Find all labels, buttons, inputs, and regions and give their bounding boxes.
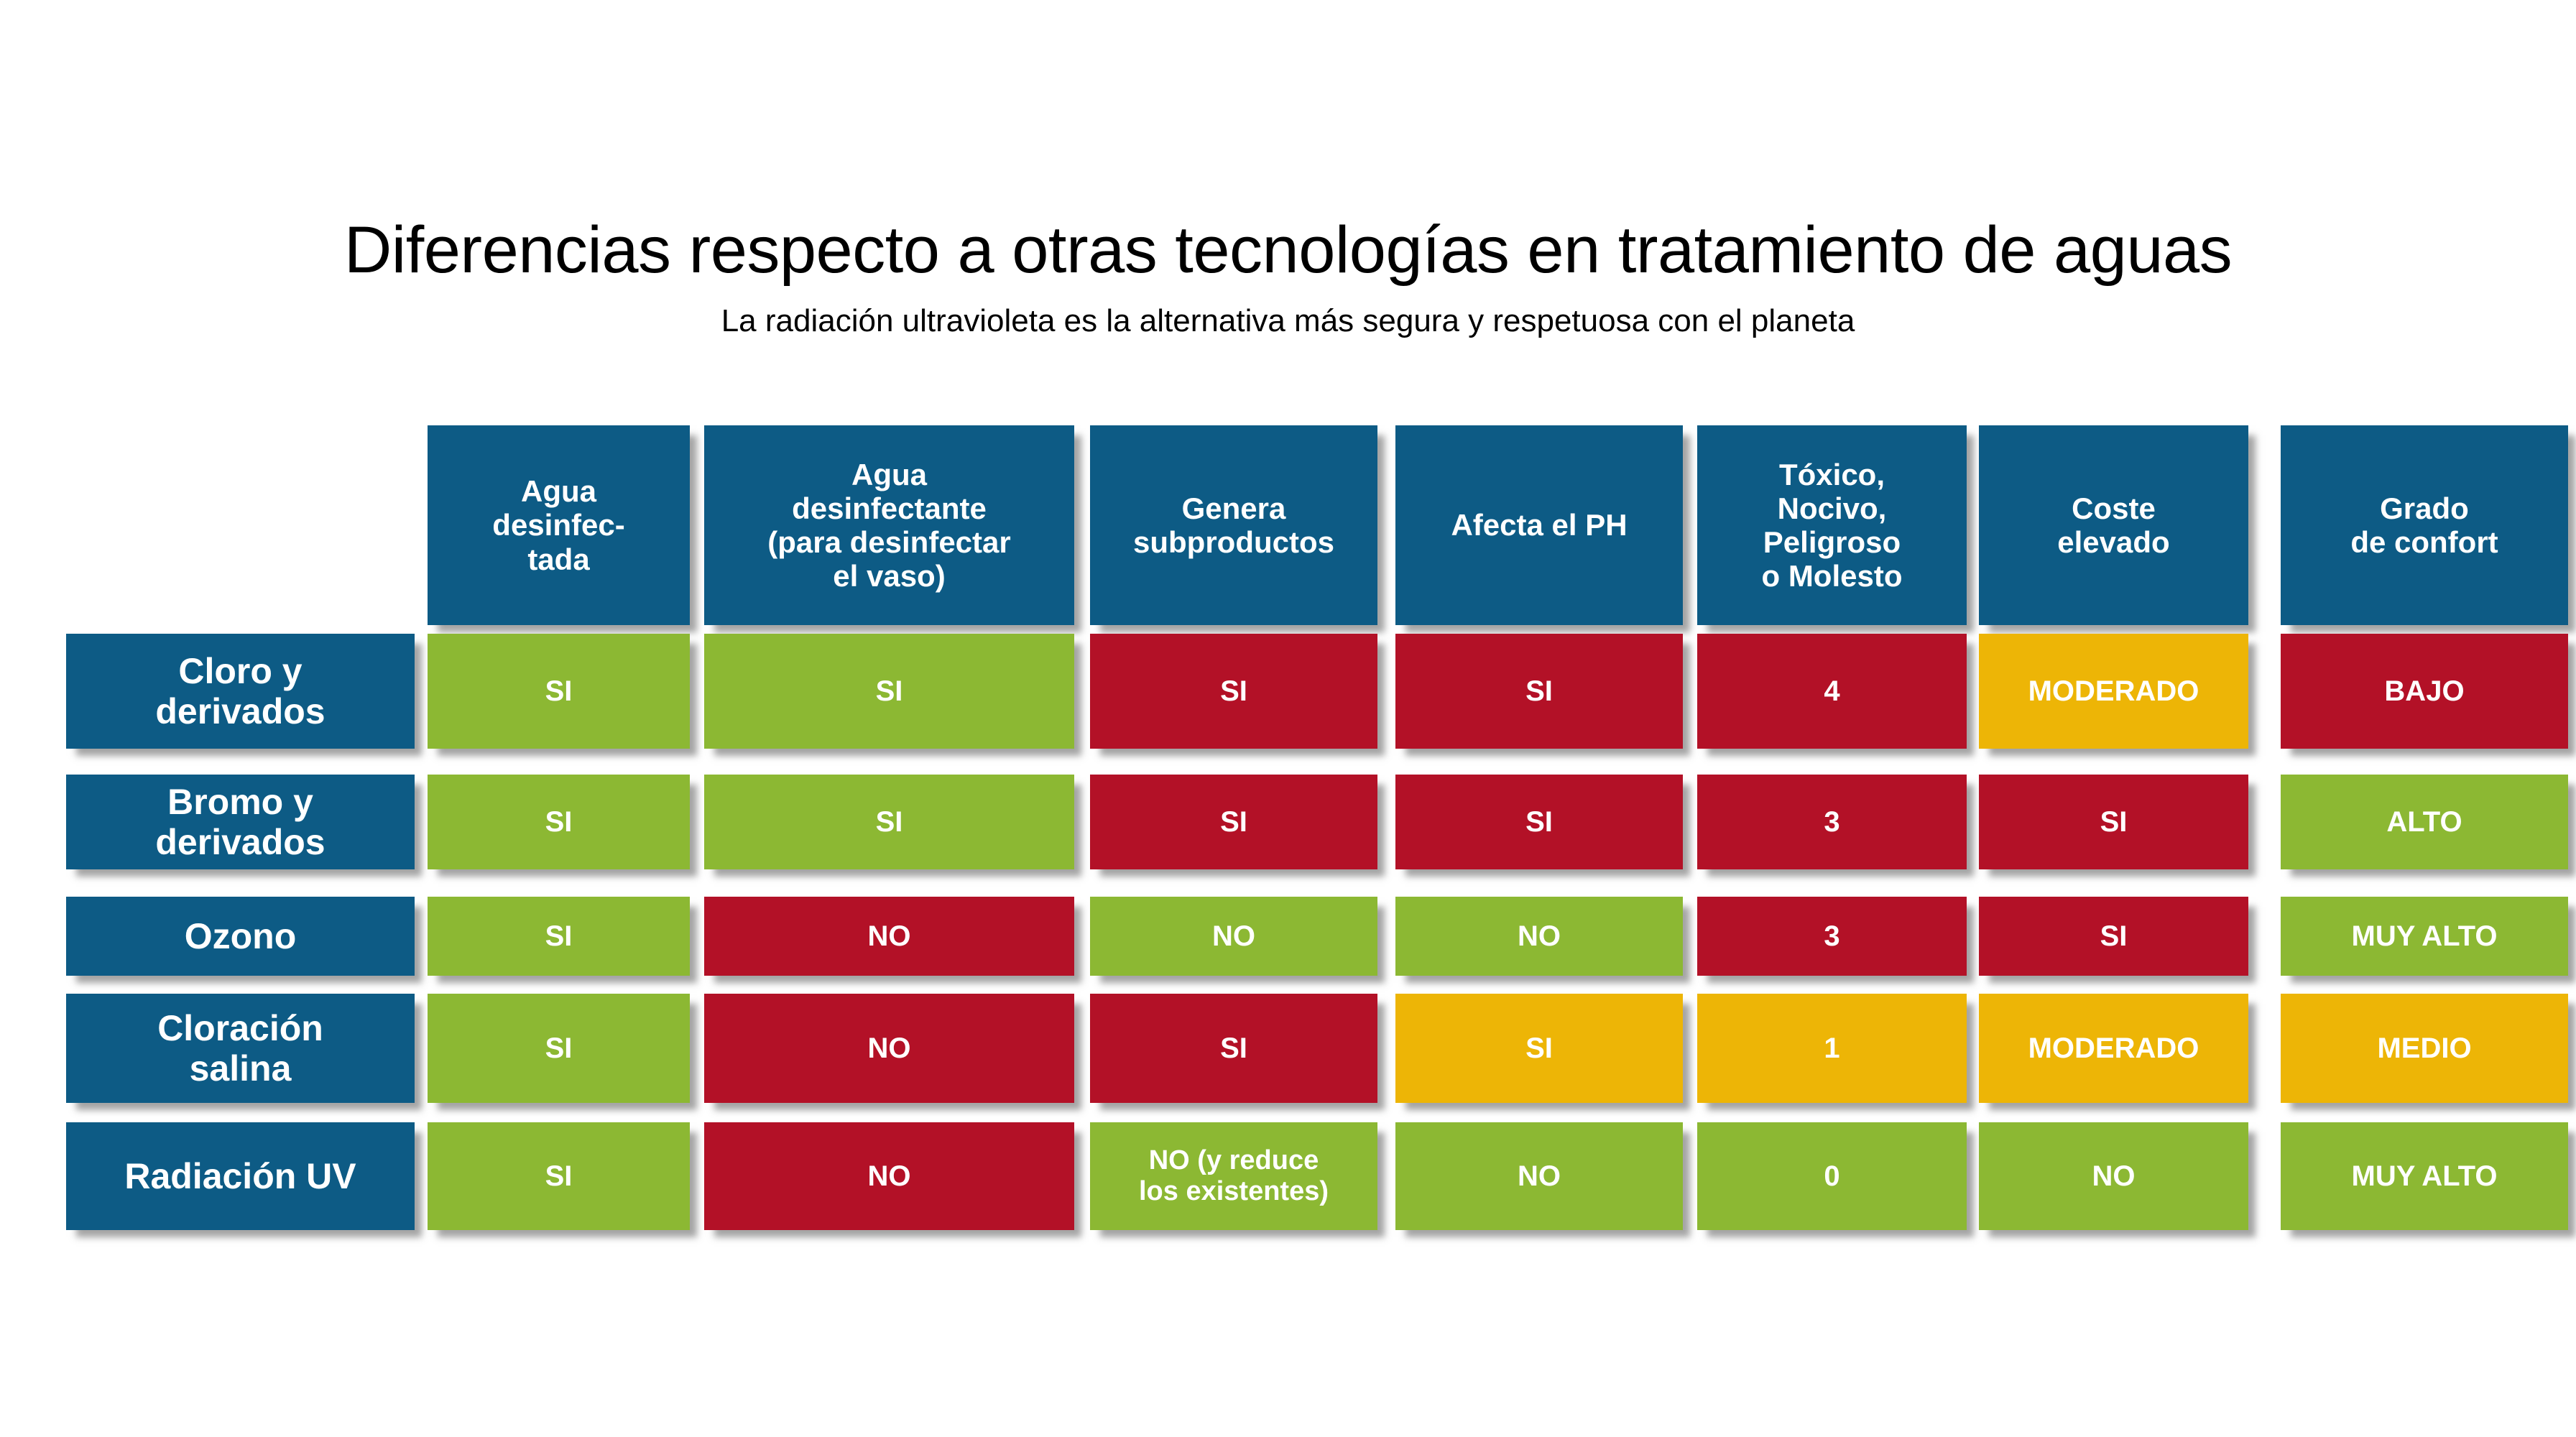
cell-r1-c2-label: SI <box>876 675 903 708</box>
cell-r5-c2: NO <box>704 1122 1074 1230</box>
row-header-3-label: Ozono <box>185 916 297 956</box>
cell-r5-c3: NO (y reducelos existentes) <box>1090 1122 1377 1230</box>
row-header-3: Ozono <box>66 897 415 976</box>
cell-r2-c1: SI <box>428 775 690 869</box>
cell-r2-c6-label: SI <box>2100 806 2128 838</box>
cell-r4-c5: 1 <box>1697 994 1967 1103</box>
cell-r1-c4: SI <box>1395 634 1683 749</box>
column-header-5: Tóxico,Nocivo,Peligrosoo Molesto <box>1697 425 1967 625</box>
cell-r5-c5: 0 <box>1697 1122 1967 1230</box>
cell-r3-c1: SI <box>428 897 690 976</box>
cell-r4-c4: SI <box>1395 994 1683 1103</box>
cell-r3-c6: SI <box>1979 897 2248 976</box>
cell-r5-c4: NO <box>1395 1122 1683 1230</box>
cell-r4-c1: SI <box>428 994 690 1103</box>
cell-r4-c7: MEDIO <box>2281 994 2568 1103</box>
cell-r3-c4-label: NO <box>1518 920 1561 953</box>
cell-r2-c7: ALTO <box>2281 775 2568 869</box>
cell-r2-c6: SI <box>1979 775 2248 869</box>
cell-r5-c6-label: NO <box>2092 1160 2136 1193</box>
cell-r5-c6: NO <box>1979 1122 2248 1230</box>
cell-r2-c2-label: SI <box>876 806 903 838</box>
cell-r3-c3-label: NO <box>1212 920 1255 953</box>
cell-r3-c4: NO <box>1395 897 1683 976</box>
cell-r1-c5-label: 4 <box>1824 675 1839 708</box>
cell-r1-c3: SI <box>1090 634 1377 749</box>
cell-r3-c1-label: SI <box>545 920 573 953</box>
cell-r1-c6: MODERADO <box>1979 634 2248 749</box>
cell-r2-c3: SI <box>1090 775 1377 869</box>
row-header-4: Cloraciónsalina <box>66 994 415 1103</box>
column-header-1-label: Aguadesinfec-tada <box>492 474 624 576</box>
cell-r5-c2-label: NO <box>868 1160 911 1193</box>
column-header-4-label: Afecta el PH <box>1451 508 1627 542</box>
cell-r4-c3-label: SI <box>1220 1032 1247 1065</box>
cell-r3-c7: MUY ALTO <box>2281 897 2568 976</box>
cell-r3-c2-label: NO <box>868 920 911 953</box>
cell-r4-c6: MODERADO <box>1979 994 2248 1103</box>
cell-r3-c2: NO <box>704 897 1074 976</box>
comparison-table: Aguadesinfec-tadaAguadesinfectante(para … <box>0 0 2576 1437</box>
cell-r2-c1-label: SI <box>545 806 573 838</box>
cell-r5-c3-label: NO (y reducelos existentes) <box>1139 1145 1329 1206</box>
row-header-2-label: Bromo yderivados <box>155 782 325 862</box>
cell-r5-c1-label: SI <box>545 1160 573 1193</box>
cell-r4-c3: SI <box>1090 994 1377 1103</box>
column-header-4: Afecta el PH <box>1395 425 1683 625</box>
row-header-1: Cloro yderivados <box>66 634 415 749</box>
column-header-7-label: Gradode confort <box>2350 491 2498 559</box>
column-header-2: Aguadesinfectante(para desinfectarel vas… <box>704 425 1074 625</box>
cell-r1-c2: SI <box>704 634 1074 749</box>
column-header-6-label: Costeelevado <box>2057 491 2169 559</box>
cell-r2-c7-label: ALTO <box>2386 806 2462 838</box>
cell-r1-c5: 4 <box>1697 634 1967 749</box>
cell-r1-c7-label: BAJO <box>2384 675 2464 708</box>
cell-r2-c5-label: 3 <box>1824 806 1839 838</box>
cell-r2-c2: SI <box>704 775 1074 869</box>
column-header-2-label: Aguadesinfectante(para desinfectarel vas… <box>767 458 1010 593</box>
cell-r1-c3-label: SI <box>1220 675 1247 708</box>
cell-r1-c6-label: MODERADO <box>2028 675 2199 708</box>
cell-r5-c7-label: MUY ALTO <box>2352 1160 2498 1193</box>
cell-r5-c7: MUY ALTO <box>2281 1122 2568 1230</box>
row-header-2: Bromo yderivados <box>66 775 415 869</box>
column-header-3: Generasubproductos <box>1090 425 1377 625</box>
cell-r2-c5: 3 <box>1697 775 1967 869</box>
cell-r4-c2: NO <box>704 994 1074 1103</box>
cell-r3-c3: NO <box>1090 897 1377 976</box>
cell-r1-c7: BAJO <box>2281 634 2568 749</box>
row-header-5-label: Radiación UV <box>124 1156 356 1196</box>
column-header-5-label: Tóxico,Nocivo,Peligrosoo Molesto <box>1762 458 1903 593</box>
row-header-5: Radiación UV <box>66 1122 415 1230</box>
cell-r3-c5: 3 <box>1697 897 1967 976</box>
column-header-3-label: Generasubproductos <box>1133 491 1334 559</box>
cell-r2-c4: SI <box>1395 775 1683 869</box>
cell-r5-c1: SI <box>428 1122 690 1230</box>
cell-r4-c2-label: NO <box>868 1032 911 1065</box>
cell-r2-c3-label: SI <box>1220 806 1247 838</box>
cell-r4-c5-label: 1 <box>1824 1032 1839 1065</box>
row-header-1-label: Cloro yderivados <box>155 651 325 731</box>
cell-r5-c5-label: 0 <box>1824 1160 1839 1193</box>
cell-r3-c5-label: 3 <box>1824 920 1839 953</box>
row-header-4-label: Cloraciónsalina <box>157 1008 323 1089</box>
cell-r3-c7-label: MUY ALTO <box>2352 920 2498 953</box>
cell-r4-c1-label: SI <box>545 1032 573 1065</box>
column-header-6: Costeelevado <box>1979 425 2248 625</box>
cell-r4-c7-label: MEDIO <box>2377 1032 2471 1065</box>
cell-r4-c4-label: SI <box>1525 1032 1553 1065</box>
column-header-1: Aguadesinfec-tada <box>428 425 690 625</box>
cell-r1-c4-label: SI <box>1525 675 1553 708</box>
cell-r1-c1-label: SI <box>545 675 573 708</box>
cell-r3-c6-label: SI <box>2100 920 2128 953</box>
cell-r2-c4-label: SI <box>1525 806 1553 838</box>
cell-r4-c6-label: MODERADO <box>2028 1032 2199 1065</box>
cell-r5-c4-label: NO <box>1518 1160 1561 1193</box>
cell-r1-c1: SI <box>428 634 690 749</box>
column-header-7: Gradode confort <box>2281 425 2568 625</box>
